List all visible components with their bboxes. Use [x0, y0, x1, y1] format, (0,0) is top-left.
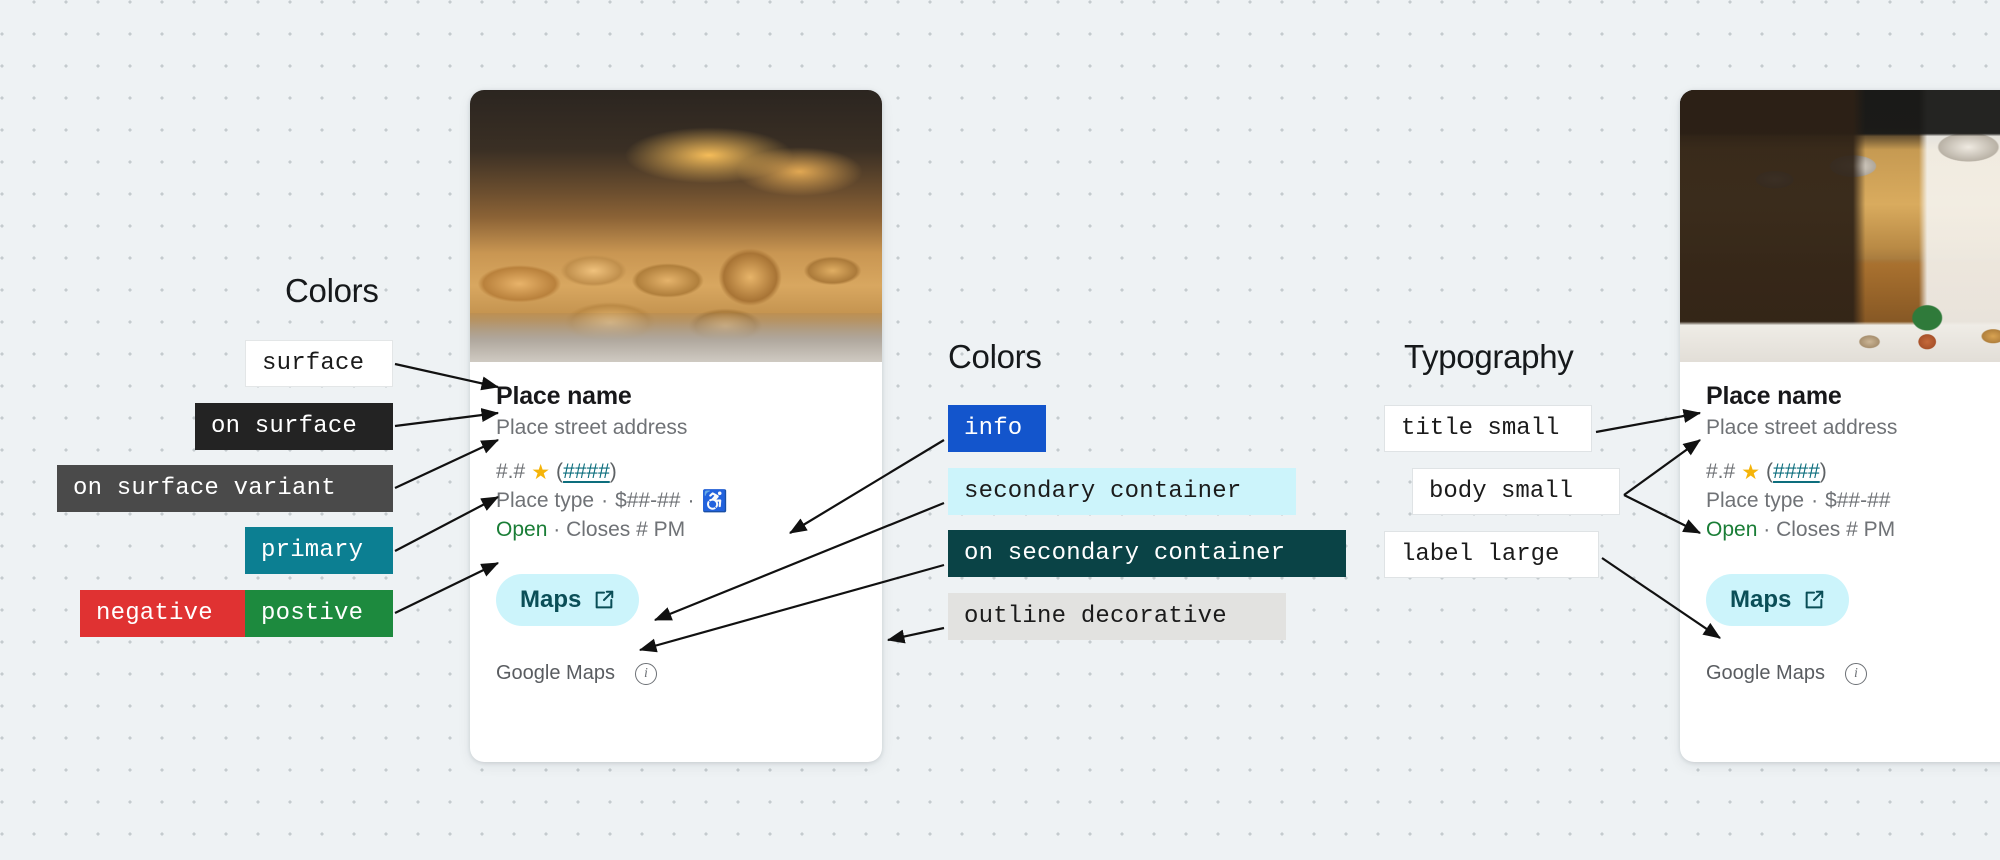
typography-chip-body-small[interactable]: body small	[1412, 468, 1620, 515]
open-status: Open	[496, 518, 547, 541]
maps-button[interactable]: Maps	[496, 574, 639, 626]
star-icon: ★	[531, 462, 550, 483]
section-title-colors-left: Colors	[285, 272, 379, 310]
color-chip-surface[interactable]: surface	[245, 340, 393, 387]
place-meta-row: Place type · $##-## · ♿	[496, 489, 856, 513]
closing-time: Closes # PM	[566, 518, 685, 541]
meta-separator-2: ·	[687, 489, 694, 513]
typography-chip-title-small[interactable]: title small	[1384, 405, 1592, 452]
place-hours-row: Open · Closes # PM	[496, 518, 856, 542]
place-type: Place type	[496, 489, 594, 513]
maps-button[interactable]: Maps	[1706, 574, 1849, 626]
place-card-right: Place name Place street address #.# ★ (#…	[1680, 90, 2000, 762]
section-title-typography: Typography	[1404, 338, 1573, 376]
bakery-pastries-photo	[470, 90, 882, 362]
google-maps-label: Google Maps	[496, 662, 615, 685]
place-card-footer: Google Maps i	[496, 662, 856, 707]
review-count-group[interactable]: (####)	[556, 460, 617, 484]
place-card-footer: Google Maps i	[1706, 662, 2000, 707]
color-chip-primary[interactable]: primary	[245, 527, 393, 574]
external-link-icon	[593, 589, 615, 611]
review-count-group[interactable]: (####)	[1766, 460, 1827, 484]
wheelchair-accessible-icon: ♿	[701, 491, 727, 512]
color-chip-on-surface-variant[interactable]: on surface variant	[57, 465, 393, 512]
maps-button-label: Maps	[1730, 586, 1791, 614]
hours-separator: ·	[553, 518, 560, 541]
place-address: Place street address	[496, 416, 856, 440]
typography-chip-label-large[interactable]: label large	[1384, 531, 1599, 578]
place-card-left: Place name Place street address #.# ★ (#…	[470, 90, 882, 762]
rating-row: #.# ★ (####)	[496, 460, 856, 484]
meta-separator-1: ·	[601, 489, 608, 513]
google-maps-label: Google Maps	[1706, 662, 1825, 685]
price-range: $##-##	[615, 489, 680, 513]
color-chip-info[interactable]: info	[948, 405, 1046, 452]
color-chip-secondary-container[interactable]: secondary container	[948, 468, 1296, 515]
review-count-link[interactable]: ####	[563, 460, 610, 483]
paren-open: (	[556, 460, 563, 483]
color-chip-on-secondary-container[interactable]: on secondary container	[948, 530, 1346, 577]
place-card-body: Place name Place street address #.# ★ (#…	[1680, 362, 2000, 707]
place-address: Place street address	[1706, 416, 2000, 440]
place-name: Place name	[1706, 382, 2000, 411]
star-icon: ★	[1741, 462, 1760, 483]
place-hours-row: Open · Closes # PM	[1706, 518, 2000, 542]
info-icon[interactable]: i	[635, 663, 657, 685]
place-card-body: Place name Place street address #.# ★ (#…	[470, 362, 882, 707]
color-chip-postive[interactable]: postive	[245, 590, 393, 637]
open-status: Open	[1706, 518, 1757, 541]
section-title-colors-middle: Colors	[948, 338, 1042, 376]
closing-time: Closes # PM	[1776, 518, 1895, 541]
price-range: $##-##	[1825, 489, 1890, 513]
color-chip-outline-decorative[interactable]: outline decorative	[948, 593, 1286, 640]
maps-button-label: Maps	[520, 586, 581, 614]
place-type: Place type	[1706, 489, 1804, 513]
cafe-interior-photo	[1680, 90, 2000, 362]
paren-close: )	[1820, 460, 1827, 483]
place-name: Place name	[496, 382, 856, 411]
place-meta-row: Place type · $##-##	[1706, 489, 2000, 513]
color-chip-negative[interactable]: negative	[80, 590, 245, 637]
paren-open: (	[1766, 460, 1773, 483]
rating-row: #.# ★ (####)	[1706, 460, 2000, 484]
color-chip-on-surface[interactable]: on surface	[195, 403, 393, 450]
external-link-icon	[1803, 589, 1825, 611]
rating-value: #.#	[1706, 460, 1735, 484]
info-icon[interactable]: i	[1845, 663, 1867, 685]
paren-close: )	[610, 460, 617, 483]
rating-value: #.#	[496, 460, 525, 484]
review-count-link[interactable]: ####	[1773, 460, 1820, 483]
hours-separator: ·	[1763, 518, 1770, 541]
meta-separator-1: ·	[1811, 489, 1818, 513]
